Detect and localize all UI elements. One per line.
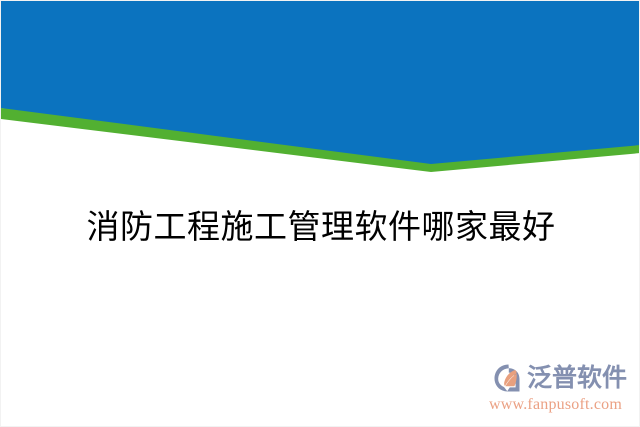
- brand-name-label: 泛普软件: [527, 364, 627, 392]
- brand-row: 泛普软件: [493, 361, 627, 395]
- slide-canvas: 消防工程施工管理软件哪家最好 泛普软件 www.fanpusoft.com: [0, 0, 640, 427]
- banner-svg: [1, 1, 640, 181]
- page-title: 消防工程施工管理软件哪家最好: [1, 205, 640, 249]
- brand-url-label: www.fanpusoft.com: [489, 396, 622, 414]
- fanpu-logo-svg: [493, 363, 523, 393]
- brand-watermark: 泛普软件 www.fanpusoft.com: [487, 356, 627, 414]
- banner-green-band: [1, 108, 640, 172]
- fanpu-logo-icon: [493, 363, 523, 393]
- banner-blue-shape: [1, 1, 640, 164]
- decorative-chevron-banner: [1, 1, 640, 181]
